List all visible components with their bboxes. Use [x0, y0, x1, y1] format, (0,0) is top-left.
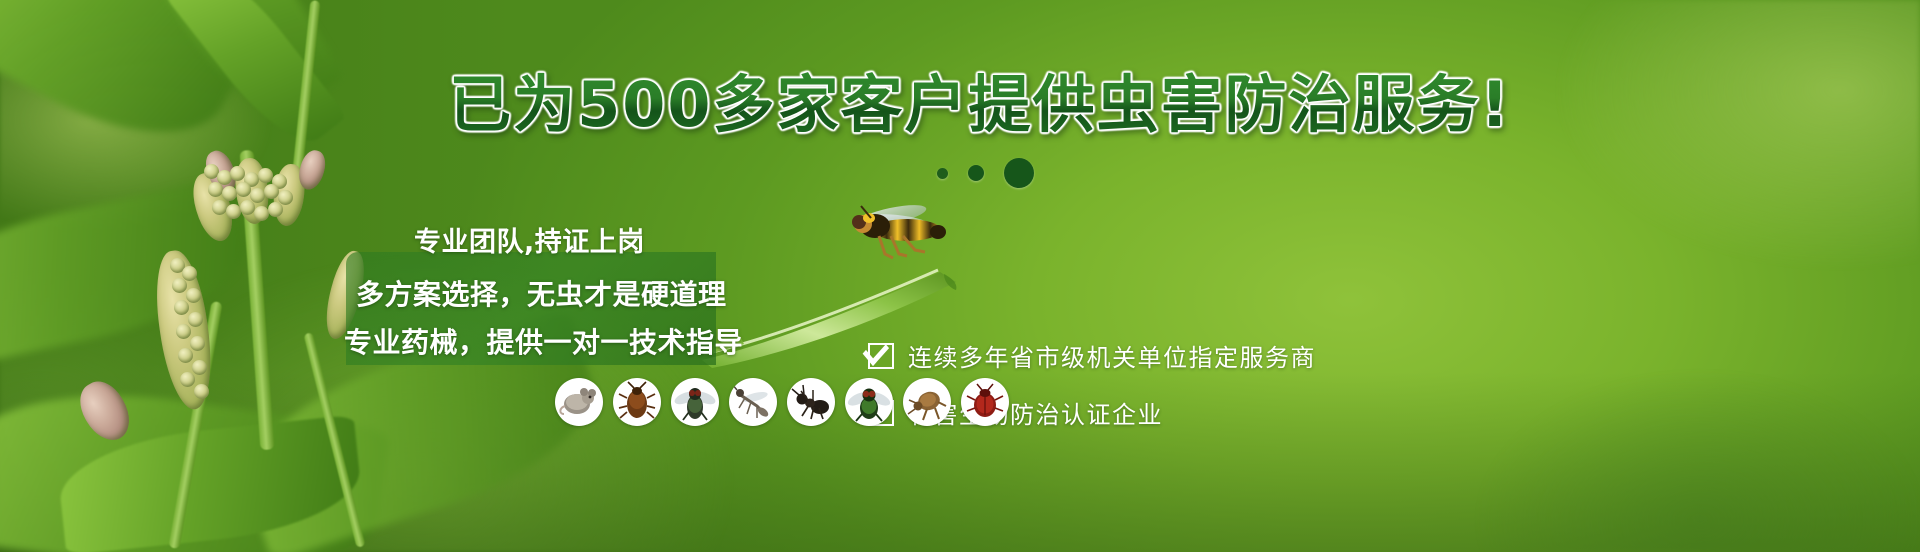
bedbug-icon[interactable] — [961, 378, 1009, 426]
flea-icon[interactable] — [903, 378, 951, 426]
banner-headline: 已为500多家客户提供虫害防治服务! — [0, 72, 1920, 137]
rodent-icon[interactable] — [555, 378, 603, 426]
mosquito-icon[interactable] — [729, 378, 777, 426]
fly-icon[interactable] — [671, 378, 719, 426]
selling-point-1: 专业团队,持证上岗 — [336, 210, 1036, 266]
dot-large-icon — [1004, 158, 1034, 188]
credential-row: 连续多年省市级机关单位指定服务商 — [868, 338, 1316, 373]
pest-type-icon-row — [555, 378, 1009, 426]
selling-point-2: 多方案选择，无虫才是硬道理 — [336, 266, 1036, 318]
promo-banner: 已为500多家客户提供虫害防治服务! 专业团队,持证上岗 多方案选择，无虫才是硬… — [0, 0, 1920, 552]
cockroach-icon[interactable] — [613, 378, 661, 426]
dot-medium-icon — [968, 165, 984, 181]
checkbox-check-icon — [868, 343, 894, 369]
dot-small-icon — [937, 168, 948, 179]
banner-headline-text: 已为500多家客户提供虫害防治服务! — [449, 72, 1511, 137]
headline-decoration-dots — [0, 158, 1920, 188]
blowfly-icon[interactable] — [845, 378, 893, 426]
ant-icon[interactable] — [787, 378, 835, 426]
credential-label-1: 连续多年省市级机关单位指定服务商 — [908, 338, 1316, 373]
